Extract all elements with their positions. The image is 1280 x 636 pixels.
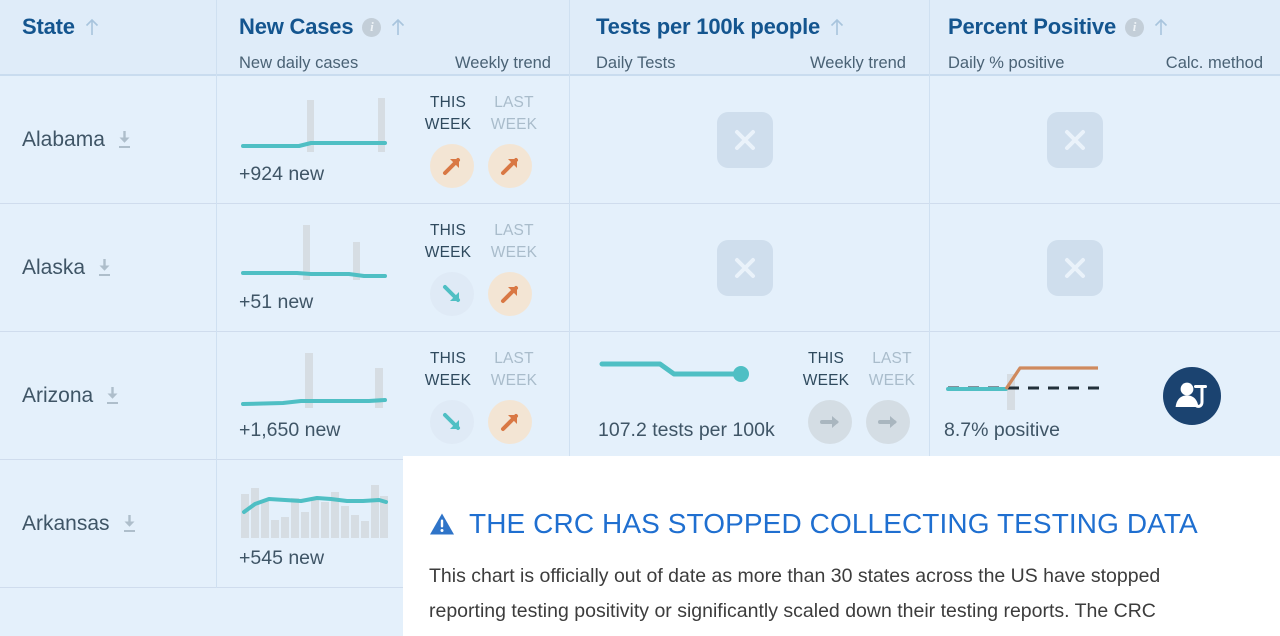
trend-label-this-week: THIS WEEK [422, 92, 474, 135]
state-cell[interactable]: Alaska [0, 204, 216, 332]
percent-positive-value: 8.7% positive [944, 420, 1140, 441]
tests-metric: 107.2 tests per 100k [570, 350, 800, 441]
column-title-state: State [22, 14, 75, 40]
tests-value: 107.2 tests per 100k [598, 420, 800, 441]
column-header-state[interactable]: State [0, 0, 216, 76]
trend-badge-this-week-down[interactable] [430, 400, 474, 444]
new-cases-metric: +924 new [217, 94, 422, 185]
warning-triangle-icon [429, 512, 455, 536]
new-cases-sparkline [239, 478, 422, 542]
info-icon[interactable]: i [1125, 18, 1144, 37]
column-subheader-new-daily-cases: New daily cases [239, 54, 358, 73]
arrow-up-right-icon [497, 281, 523, 307]
tests-cell[interactable]: 107.2 tests per 100k THIS WEEK LAST WEEK [569, 332, 929, 460]
new-cases-cell[interactable]: +51 new THIS WEEK LAST WEEK [216, 204, 569, 332]
table-row[interactable]: Alabama +924 new THIS [0, 76, 1280, 204]
new-cases-metric: +545 new [217, 478, 422, 569]
download-icon[interactable] [96, 258, 113, 278]
state-name: Arkansas [22, 512, 110, 536]
arrow-right-icon [817, 409, 843, 435]
download-icon[interactable] [104, 386, 121, 406]
notice-title: THE CRC HAS STOPPED COLLECTING TESTING D… [469, 508, 1198, 540]
trend-label-this-week: THIS WEEK [422, 348, 474, 391]
person-j-calc-method-icon[interactable] [1163, 367, 1221, 425]
column-header-new-cases[interactable]: New Cases i New daily cases Weekly trend [216, 0, 569, 76]
arrow-down-right-icon [439, 409, 465, 435]
x-placeholder-icon [1047, 112, 1103, 168]
table-row[interactable]: Alaska +51 new THIS WE [0, 204, 1280, 332]
info-icon[interactable]: i [362, 18, 381, 37]
table-row[interactable]: Arizona +1,650 new THI [0, 332, 1280, 460]
trend-label-last-week: LAST WEEK [866, 348, 918, 391]
column-title-percent-positive: Percent Positive [948, 14, 1116, 40]
arrow-up-right-icon [497, 153, 523, 179]
download-icon[interactable] [116, 130, 133, 150]
percent-positive-cell-empty [929, 204, 1280, 332]
sort-up-arrow-icon[interactable] [1153, 17, 1169, 37]
trend-badge-last-week-flat[interactable] [866, 400, 910, 444]
state-name: Arizona [22, 384, 93, 408]
trend-badge-this-week-down[interactable] [430, 272, 474, 316]
new-cases-value: +924 new [239, 164, 422, 185]
state-cell[interactable]: Arkansas [0, 460, 216, 588]
column-title-tests-per-100k: Tests per 100k people [596, 14, 820, 40]
new-cases-value: +545 new [239, 548, 422, 569]
state-name: Alabama [22, 128, 105, 152]
trend-badge-last-week-up[interactable] [488, 144, 532, 188]
tests-cell-empty [569, 204, 929, 332]
column-subheader-daily-tests: Daily Tests [596, 54, 675, 73]
column-header-percent-positive[interactable]: Percent Positive i Daily % positive Calc… [929, 0, 1280, 76]
column-title-new-cases: New Cases [239, 14, 353, 40]
arrow-right-icon [875, 409, 901, 435]
x-placeholder-icon [1047, 240, 1103, 296]
new-cases-sparkline [239, 94, 422, 158]
x-placeholder-icon [717, 240, 773, 296]
column-subheader-weekly-trend: Weekly trend [455, 54, 551, 73]
trend-label-last-week: LAST WEEK [488, 220, 540, 263]
new-cases-value: +1,650 new [239, 420, 422, 441]
state-cell[interactable]: Arizona [0, 332, 216, 460]
sort-up-arrow-icon[interactable] [390, 17, 406, 37]
trend-badge-last-week-up[interactable] [488, 400, 532, 444]
state-name: Alaska [22, 256, 85, 280]
new-cases-sparkline [239, 350, 422, 414]
trend-label-last-week: LAST WEEK [488, 348, 540, 391]
tests-trend: THIS WEEK LAST WEEK [800, 348, 918, 444]
table-header-row: State New Cases i New daily cases Weekly… [0, 0, 1280, 76]
sort-up-arrow-icon[interactable] [84, 17, 100, 37]
arrow-down-right-icon [439, 281, 465, 307]
notice-body: This chart is officially out of date as … [429, 559, 1236, 628]
column-subheader-daily-percent-positive: Daily % positive [948, 54, 1064, 73]
new-cases-sparkline [239, 222, 422, 286]
trend-badge-this-week-up[interactable] [430, 144, 474, 188]
tests-cell-empty [569, 76, 929, 204]
trend-label-this-week: THIS WEEK [422, 220, 474, 263]
column-subheader-weekly-trend: Weekly trend [810, 54, 906, 73]
new-cases-cell[interactable]: +924 new THIS WEEK LAST WEEK [216, 76, 569, 204]
x-placeholder-icon [717, 112, 773, 168]
new-cases-trend: THIS WEEK LAST WEEK [422, 220, 540, 316]
column-subheader-calc-method: Calc. method [1166, 54, 1263, 73]
percent-positive-cell-empty [929, 76, 1280, 204]
new-cases-metric: +51 new [217, 222, 422, 313]
download-icon[interactable] [121, 514, 138, 534]
tests-sparkline [598, 350, 800, 414]
arrow-up-right-icon [439, 153, 465, 179]
trend-badge-this-week-flat[interactable] [808, 400, 852, 444]
arrow-up-right-icon [497, 409, 523, 435]
trend-label-last-week: LAST WEEK [488, 92, 540, 135]
new-cases-cell[interactable]: +1,650 new THIS WEEK LAST WEEK [216, 332, 569, 460]
percent-positive-cell[interactable]: 8.7% positive [929, 332, 1280, 460]
state-metrics-table: State New Cases i New daily cases Weekly… [0, 0, 1280, 636]
new-cases-value: +51 new [239, 292, 422, 313]
new-cases-metric: +1,650 new [217, 350, 422, 441]
new-cases-trend: THIS WEEK LAST WEEK [422, 348, 540, 444]
testing-data-notice: THE CRC HAS STOPPED COLLECTING TESTING D… [403, 456, 1280, 636]
trend-label-this-week: THIS WEEK [800, 348, 852, 391]
column-header-tests-per-100k[interactable]: Tests per 100k people Daily Tests Weekly… [569, 0, 929, 76]
state-cell[interactable]: Alabama [0, 76, 216, 204]
sort-up-arrow-icon[interactable] [829, 17, 845, 37]
new-cases-trend: THIS WEEK LAST WEEK [422, 92, 540, 188]
trend-badge-last-week-up[interactable] [488, 272, 532, 316]
percent-positive-sparkline [944, 350, 1140, 414]
percent-positive-metric: 8.7% positive [930, 350, 1140, 441]
